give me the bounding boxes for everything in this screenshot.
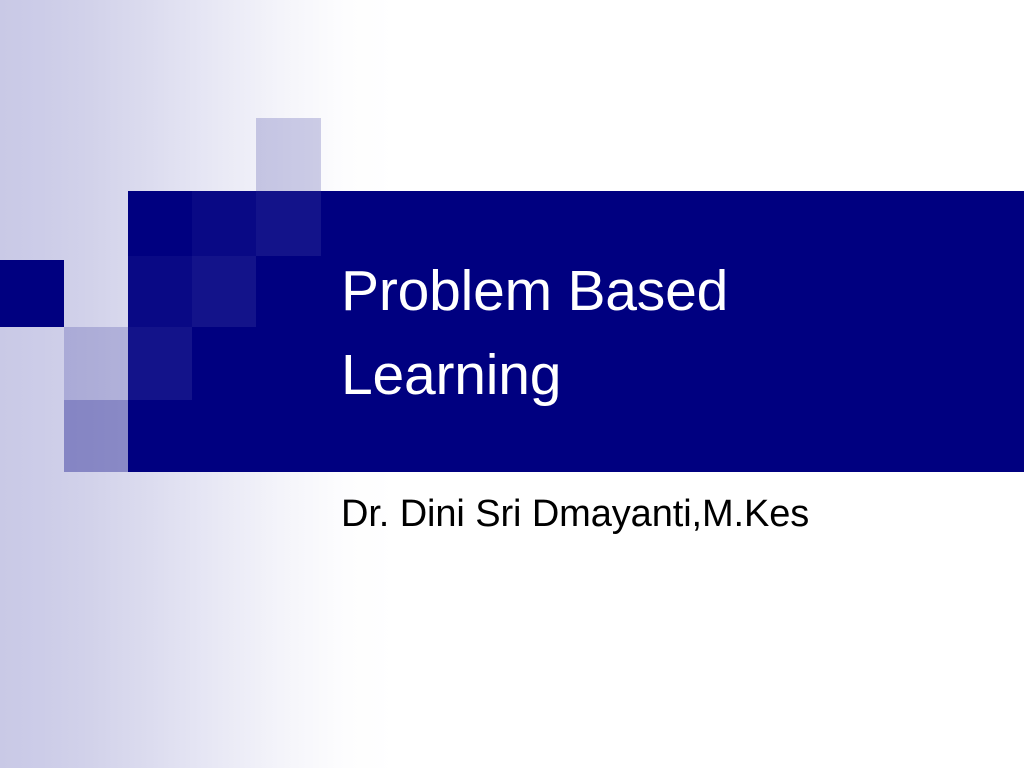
slide-subtitle-author: Dr. Dini Sri Dmayanti,M.Kes [341, 492, 1001, 538]
pale-square-r4c1 [64, 327, 128, 400]
medium-square-r3c3 [192, 256, 256, 327]
pale-square-r3c2 [128, 256, 192, 327]
pale-square-r1c4 [256, 118, 321, 191]
navy-accent-square-left [0, 260, 64, 327]
medium-square-r4c2 [128, 327, 192, 400]
slide-canvas: Problem Based Learning Dr. Dini Sri Dmay… [0, 0, 1024, 768]
medium-square-r2c4 [256, 191, 321, 256]
slide-title: Problem Based Learning [341, 250, 981, 418]
pale-square-r2c3 [192, 191, 256, 256]
medium-square-r5c1 [64, 400, 128, 472]
